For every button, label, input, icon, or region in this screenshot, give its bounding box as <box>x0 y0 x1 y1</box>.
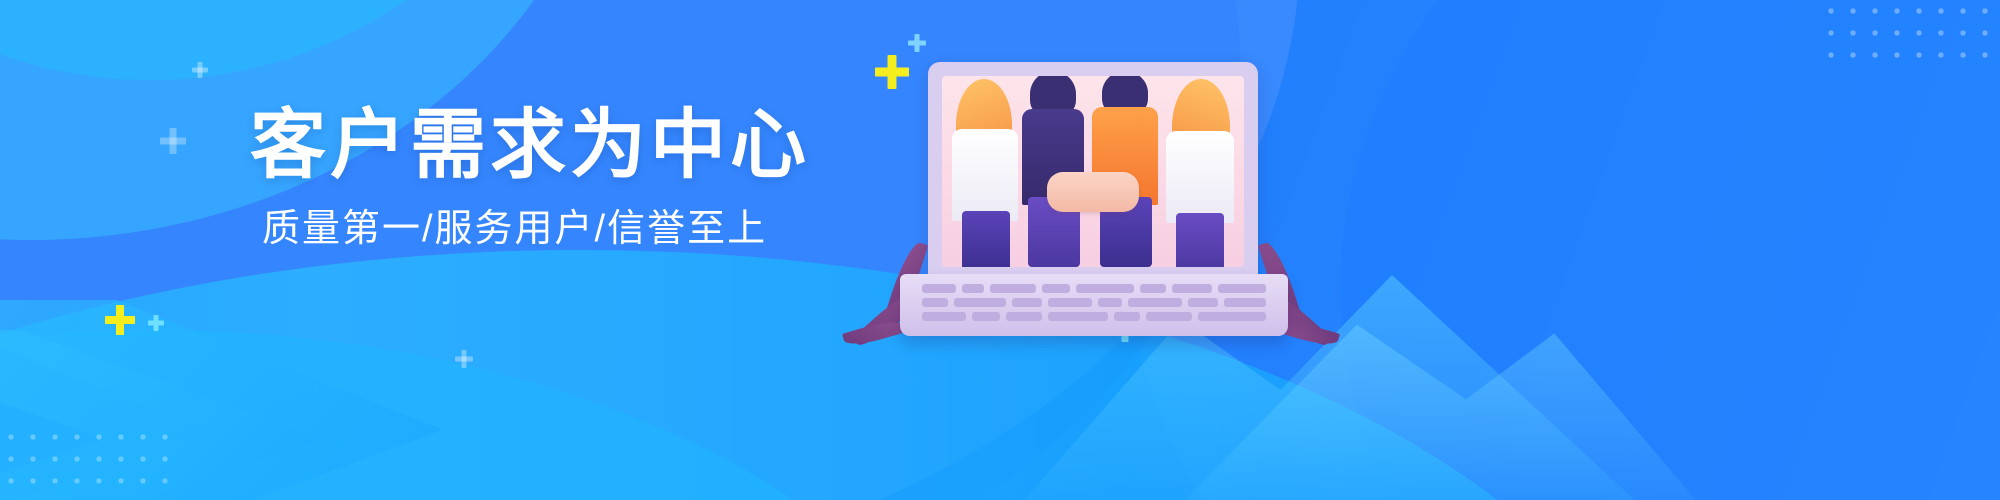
person-1-bottom <box>962 211 1010 267</box>
person-1-top <box>952 129 1018 221</box>
plus-yellow-bottom-icon <box>105 305 135 335</box>
person-1 <box>948 77 1026 267</box>
joined-hands <box>1047 172 1139 212</box>
keyboard-row-2 <box>922 298 1266 307</box>
keyboard-key <box>922 284 956 293</box>
plus-cyan-bottom-icon <box>148 315 164 331</box>
laptop-screen <box>942 76 1244 267</box>
keyboard-key <box>1188 298 1218 307</box>
laptop-lid <box>928 62 1258 277</box>
keyboard-key <box>1006 312 1042 321</box>
keyboard-row-3 <box>922 312 1266 321</box>
keyboard-key <box>1172 284 1212 293</box>
keyboard-key <box>1140 284 1166 293</box>
keyboard-key <box>1076 284 1134 293</box>
plus-white-faint-a-icon <box>192 62 208 78</box>
plus-white-faint-b-icon <box>160 128 186 154</box>
keyboard-key <box>962 284 984 293</box>
keyboard-key <box>1146 312 1192 321</box>
laptop-illustration <box>900 62 1300 352</box>
keyboard-key <box>1048 312 1108 321</box>
keyboard-key <box>990 284 1036 293</box>
keyboard-key <box>972 312 1000 321</box>
background-wave-cyan-top <box>0 0 600 80</box>
plus-cyan-small-icon <box>908 34 926 52</box>
keyboard-key <box>1098 298 1122 307</box>
plus-cyan-far-left-icon <box>455 350 473 368</box>
person-4-top <box>1166 131 1234 223</box>
keyboard-key <box>1012 298 1042 307</box>
keyboard-row-1 <box>922 284 1266 293</box>
keyboard-key <box>954 298 1006 307</box>
keyboard-key <box>1128 298 1182 307</box>
page-title: 客户需求为中心 <box>250 108 810 184</box>
keyboard-key <box>1114 312 1140 321</box>
keyboard-key <box>1224 298 1266 307</box>
person-4-bottom <box>1176 213 1224 267</box>
page-subtitle: 质量第一/服务用户/信誉至上 <box>262 210 810 248</box>
person-4 <box>1158 77 1242 267</box>
headline-block: 客户需求为中心 质量第一/服务用户/信誉至上 <box>250 108 810 248</box>
promo-banner: 客户需求为中心 质量第一/服务用户/信誉至上 <box>0 0 2000 500</box>
keyboard-key <box>922 312 966 321</box>
dot-grid-top-right <box>1820 0 2000 74</box>
keyboard-key <box>1218 284 1266 293</box>
laptop-base <box>900 274 1288 336</box>
keyboard-key <box>1042 284 1070 293</box>
keyboard-key <box>1048 298 1092 307</box>
keyboard-key <box>1198 312 1266 321</box>
keyboard-key <box>922 298 948 307</box>
